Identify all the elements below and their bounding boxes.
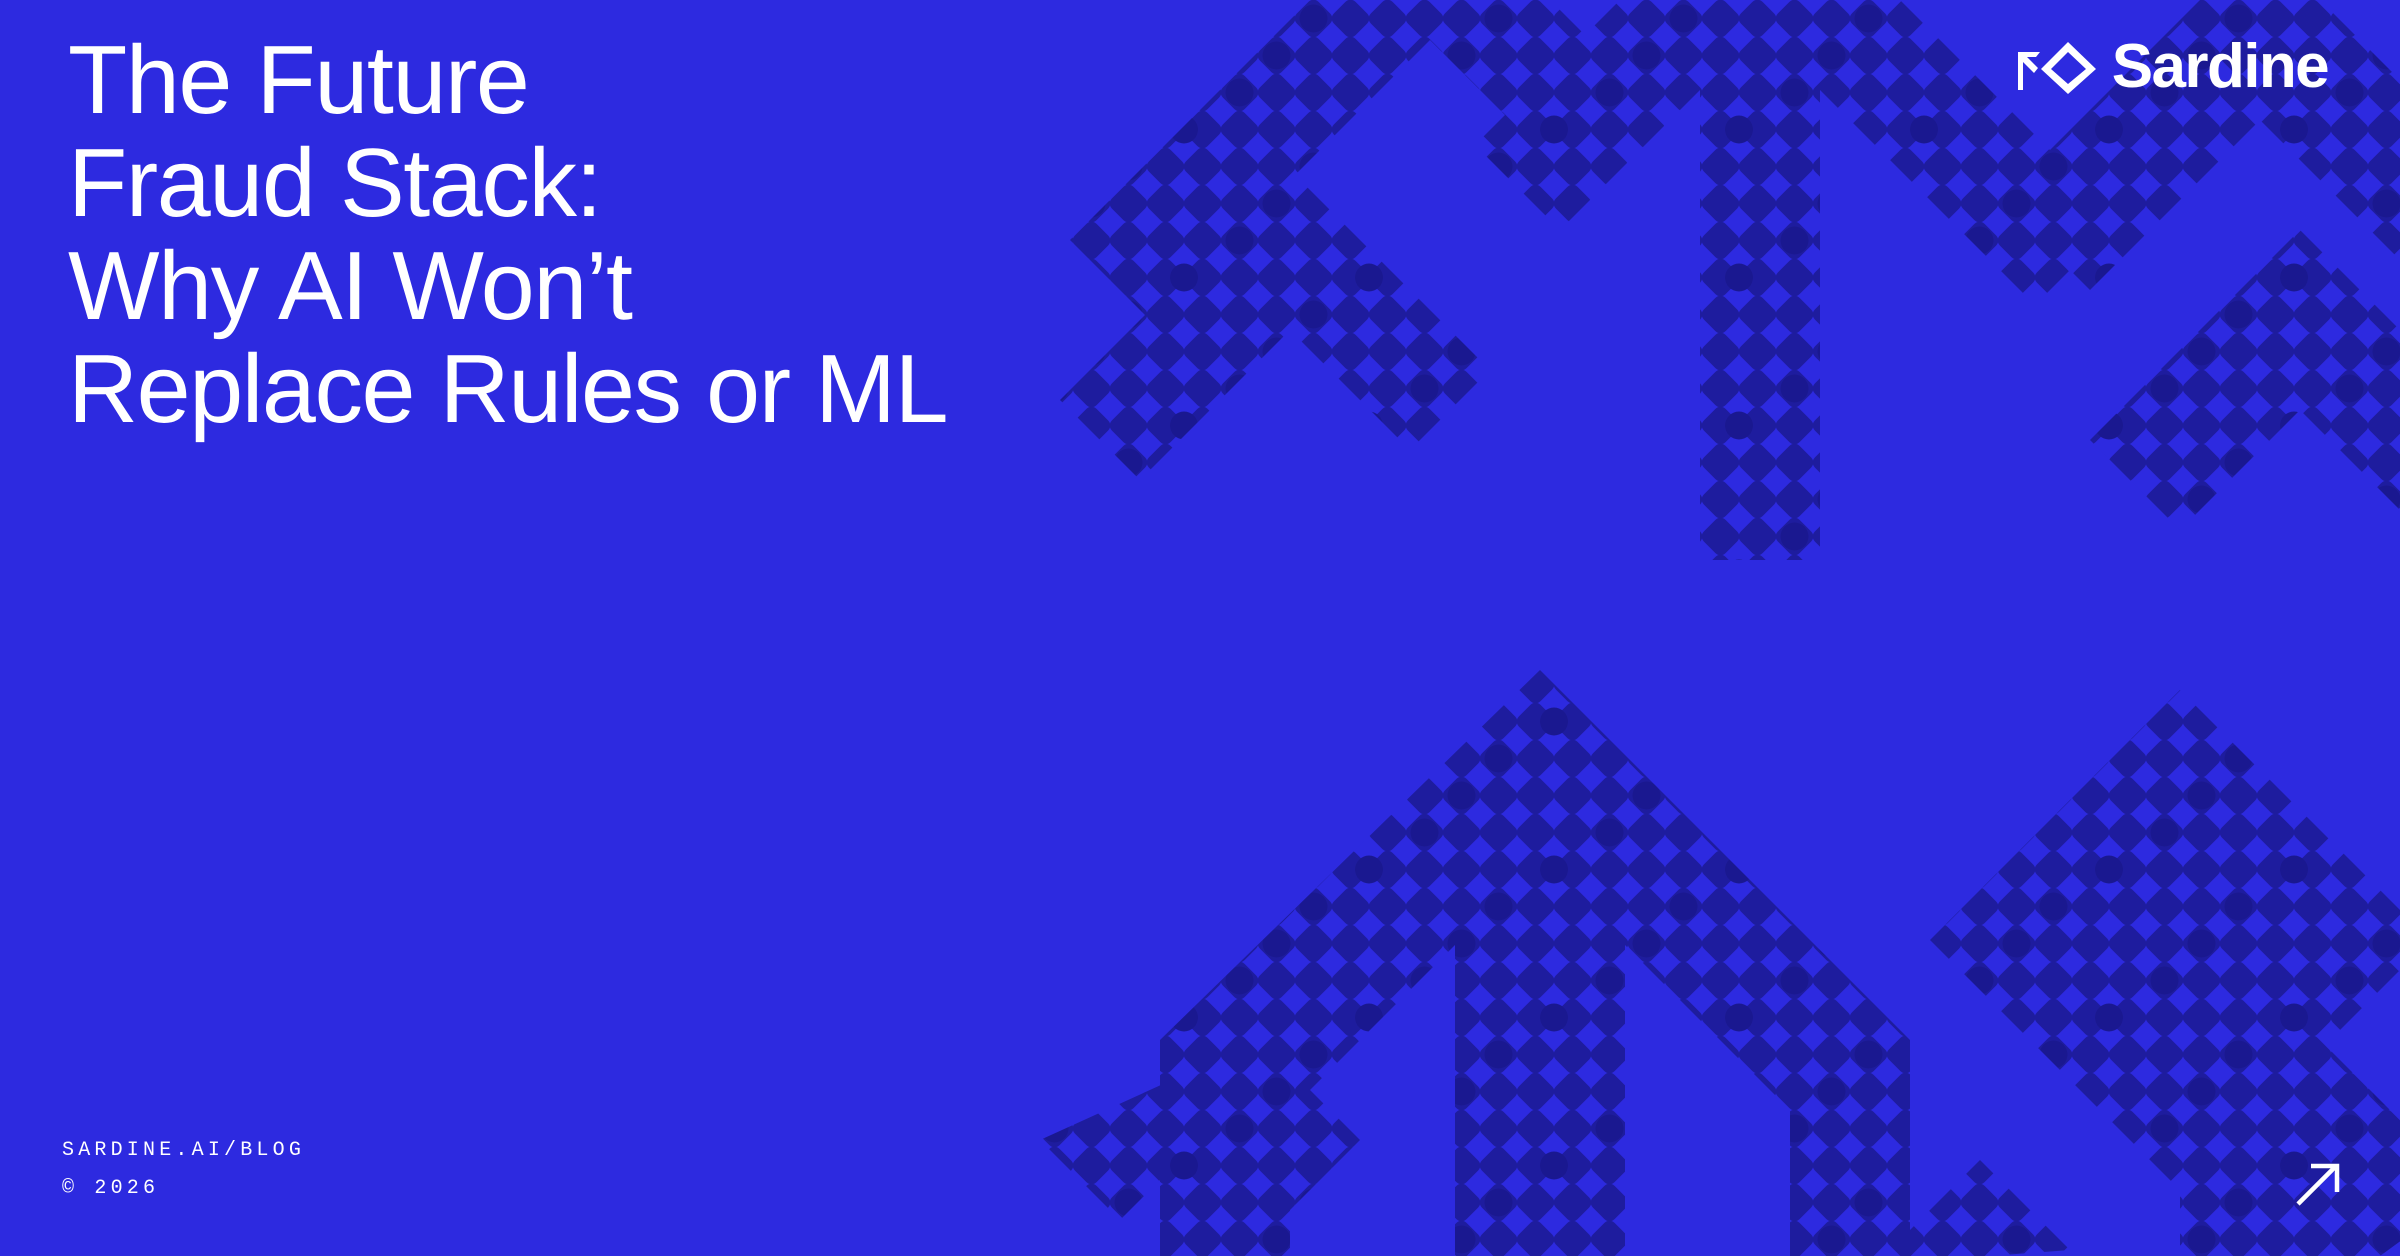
footer-meta: SARDINE.AI/BLOG © 2026 (62, 1132, 305, 1208)
brand-logo[interactable]: Sardine (2014, 36, 2328, 98)
page-title: The Future Fraud Stack: Why AI Won’t Rep… (68, 28, 947, 440)
footer-copyright: © 2026 (62, 1170, 305, 1208)
brand-wordmark: Sardine (2112, 36, 2328, 98)
sardine-diamond-logo-icon (2014, 38, 2098, 96)
footer-url[interactable]: SARDINE.AI/BLOG (62, 1132, 305, 1170)
arrow-up-right-icon[interactable] (2292, 1158, 2344, 1210)
blog-cover-slide: The Future Fraud Stack: Why AI Won’t Rep… (0, 0, 2400, 1256)
